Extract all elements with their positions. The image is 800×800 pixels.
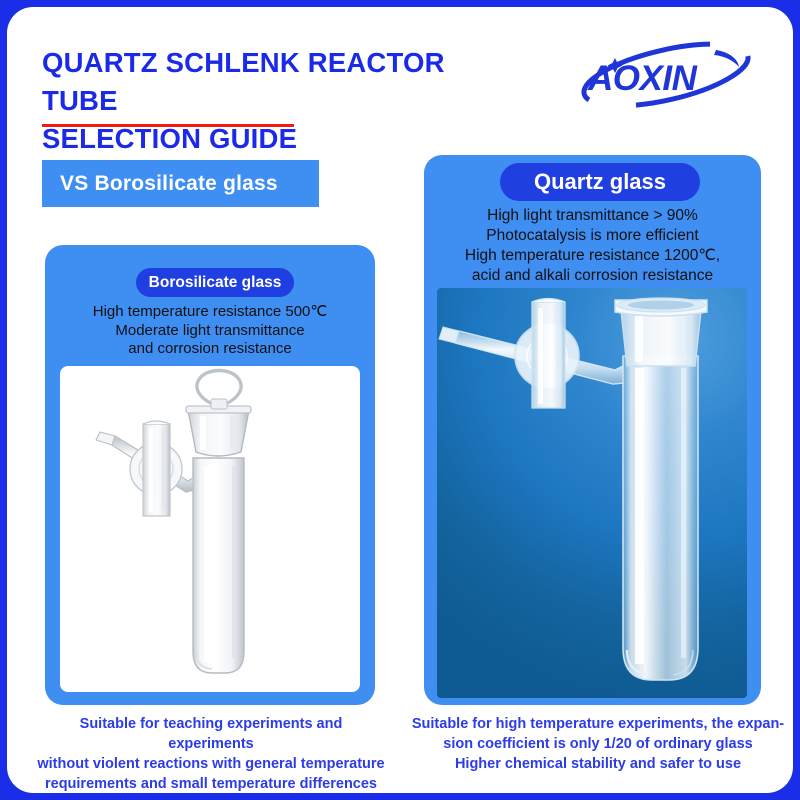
quartz-caption: Suitable for high temperature experiment…	[403, 714, 793, 774]
quartz-badge: Quartz glass	[500, 163, 700, 201]
borosilicate-badge: Borosilicate glass	[136, 268, 294, 297]
brand-wordmark: AOXIN	[587, 59, 698, 98]
aoxin-logo-icon: AOXIN	[566, 44, 766, 106]
page-title: QUARTZ SCHLENK REACTOR TUBE SELECTION GU…	[42, 44, 512, 158]
vs-banner-label: VS Borosilicate glass	[60, 172, 278, 196]
borosilicate-spec-list: High temperature resistance 500℃ Moderat…	[45, 303, 375, 359]
brand-logo: AOXIN	[566, 44, 766, 106]
poster-root: QUARTZ SCHLENK REACTOR TUBE SELECTION GU…	[0, 0, 800, 800]
borosilicate-spec-line: High temperature resistance 500℃	[45, 303, 375, 322]
quartz-spec-line: Photocatalysis is more efficient	[424, 226, 761, 246]
borosilicate-caption-line: Suitable for teaching experiments and ex…	[36, 714, 386, 754]
quartz-spec-line: High light transmittance > 90%	[424, 206, 761, 226]
quartz-schlenk-tube-illustration	[437, 288, 747, 698]
quartz-product-photo	[437, 288, 747, 698]
borosilicate-product-photo	[60, 366, 360, 692]
page-title-line-1: QUARTZ SCHLENK REACTOR TUBE	[42, 44, 512, 120]
borosilicate-spec-line: and corrosion resistance	[45, 340, 375, 359]
borosilicate-schlenk-tube-illustration	[60, 366, 360, 692]
quartz-caption-line: Higher chemical stability and safer to u…	[403, 754, 793, 774]
quartz-caption-line: Suitable for high temperature experiment…	[403, 714, 793, 734]
borosilicate-spec-line: Moderate light transmittance	[45, 322, 375, 341]
quartz-badge-label: Quartz glass	[534, 169, 666, 195]
borosilicate-badge-label: Borosilicate glass	[149, 274, 282, 292]
borosilicate-caption: Suitable for teaching experiments and ex…	[36, 714, 386, 794]
quartz-caption-line: sion coefficient is only 1/20 of ordinar…	[403, 734, 793, 754]
borosilicate-caption-line: requirements and small temperature diffe…	[36, 774, 386, 794]
quartz-spec-line: High temperature resistance 1200℃,	[424, 246, 761, 266]
quartz-spec-list: High light transmittance > 90% Photocata…	[424, 206, 761, 286]
vs-banner: VS Borosilicate glass	[42, 160, 319, 207]
borosilicate-caption-line: without violent reactions with general t…	[36, 754, 386, 774]
title-underline-rule	[42, 124, 294, 127]
quartz-spec-line: acid and alkali corrosion resistance	[424, 266, 761, 286]
